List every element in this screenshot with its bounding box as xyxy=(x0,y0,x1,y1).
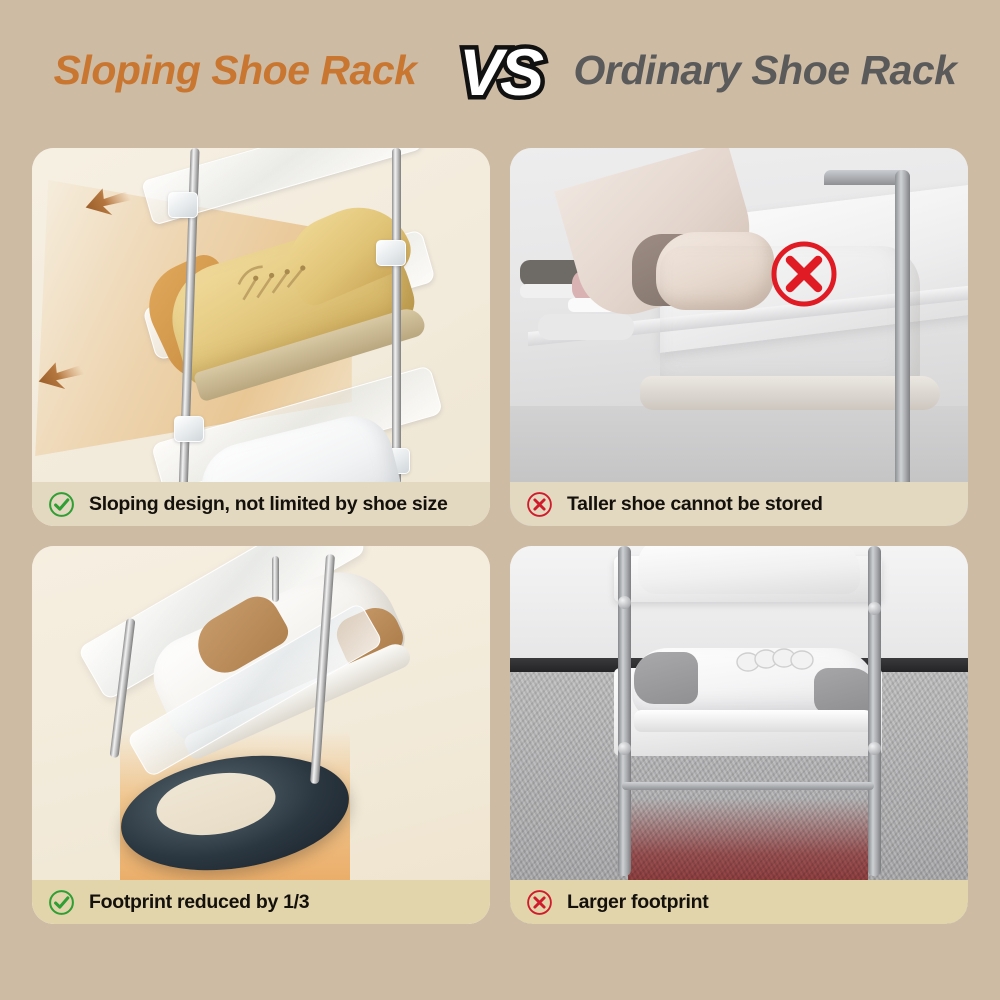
caption-text: Sloping design, not limited by shoe size xyxy=(89,493,448,516)
photo-taller-shoe xyxy=(510,148,968,526)
photo-sloping-design xyxy=(32,148,490,526)
tray-clip xyxy=(174,416,204,442)
comparison-grid: Sloping design, not limited by shoe size xyxy=(32,148,968,956)
red-x-circle-icon xyxy=(768,238,840,310)
panel-footprint-reduced: 20cm/7.85inch Footprint reduced by 1/3 xyxy=(32,546,490,924)
sneaker-laces xyxy=(632,632,878,736)
rack-bolt xyxy=(618,742,631,755)
rack-crossbar xyxy=(622,782,874,790)
rack-leg-right xyxy=(868,546,881,876)
tray-clip xyxy=(376,240,406,266)
header: Sloping Shoe Rack VS Ordinary Shoe Rack xyxy=(0,0,1000,140)
infographic-root: Sloping Shoe Rack VS Ordinary Shoe Rack xyxy=(0,0,1000,1000)
caption-bar-larger-footprint: Larger footprint xyxy=(510,880,968,924)
caption-bar-sloping-design: Sloping design, not limited by shoe size xyxy=(32,482,490,526)
panel-sloping-design: Sloping design, not limited by shoe size xyxy=(32,148,490,526)
caption-text: Larger footprint xyxy=(567,891,708,914)
panel-taller-shoe: Taller shoe cannot be stored xyxy=(510,148,968,526)
cross-icon xyxy=(526,491,553,518)
photo-larger-footprint: 30cm/11.8inch xyxy=(510,546,968,924)
check-icon xyxy=(48,889,75,916)
sneaker-upper-shelf xyxy=(638,546,860,594)
page-title-right: Ordinary Shoe Rack xyxy=(555,47,975,94)
tray-clip xyxy=(168,192,198,218)
chrome-pole-back xyxy=(272,556,279,602)
page-title-left: Sloping Shoe Rack xyxy=(25,47,445,94)
rack-pole xyxy=(895,170,910,500)
cross-icon xyxy=(526,889,553,916)
check-icon xyxy=(48,491,75,518)
rack-bolt xyxy=(618,596,631,609)
caption-text: Footprint reduced by 1/3 xyxy=(89,891,309,914)
vs-badge: VS xyxy=(445,39,555,105)
caption-bar-taller-shoe: Taller shoe cannot be stored xyxy=(510,482,968,526)
panel-larger-footprint: 30cm/11.8inch Larger footprint xyxy=(510,546,968,924)
rack-bolt xyxy=(868,602,881,615)
caption-bar-footprint-reduced: Footprint reduced by 1/3 xyxy=(32,880,490,924)
rack-bolt xyxy=(868,742,881,755)
photo-footprint-reduced: 20cm/7.85inch xyxy=(32,546,490,924)
caption-text: Taller shoe cannot be stored xyxy=(567,493,823,516)
sneaker-image xyxy=(632,632,878,736)
